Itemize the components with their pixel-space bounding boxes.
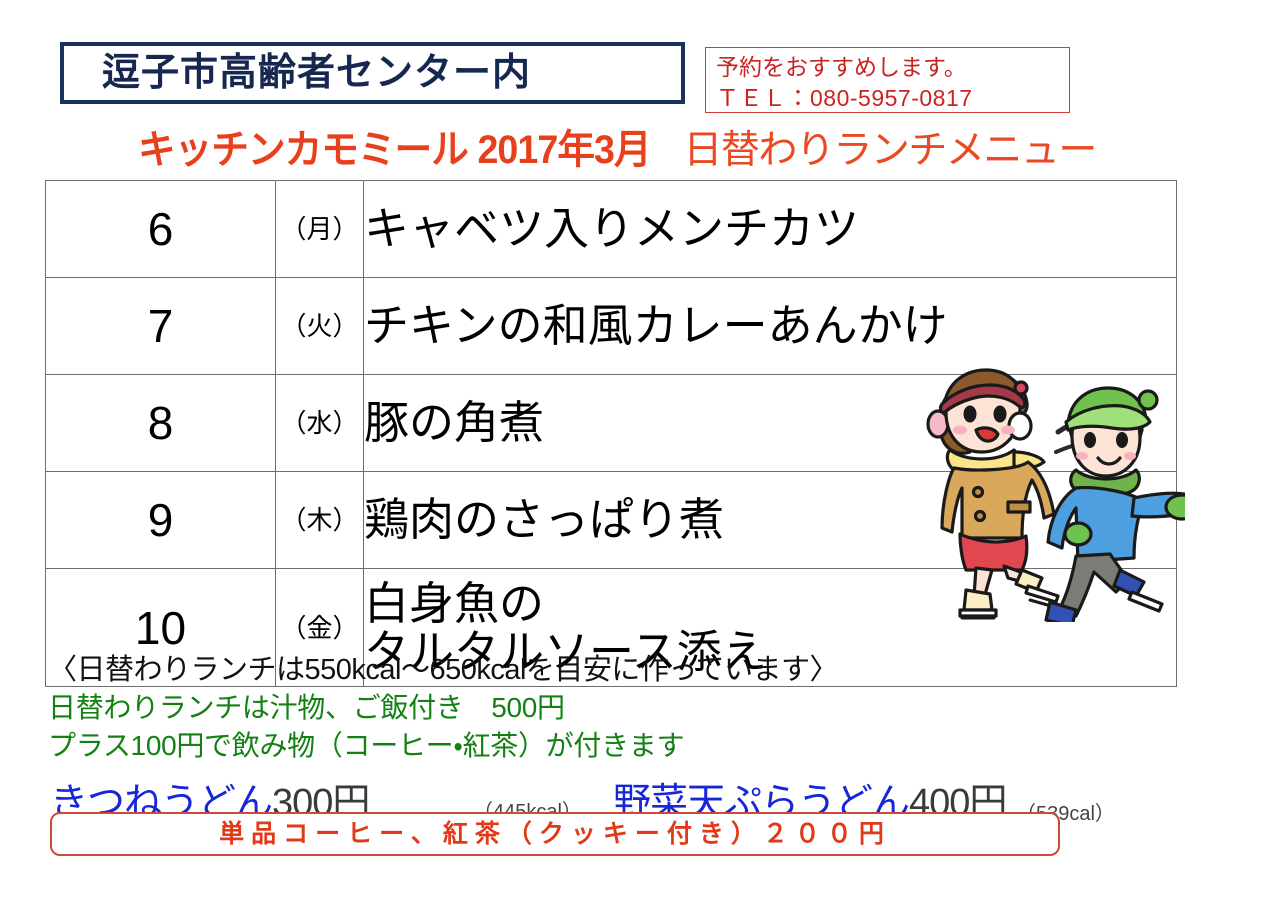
calorie-note: 〈日替わりランチは550kcal～650kcalを目安に作っています〉 [48, 652, 1238, 689]
table-row: 7 （火） チキンの和風カレーあんかけ [46, 278, 1177, 375]
menu-dish: 豚の角煮 [364, 375, 1177, 472]
table-row: 6 （月） キャベツ入りメンチカツ [46, 181, 1177, 278]
menu-dish: チキンの和風カレーあんかけ [364, 278, 1177, 375]
menu-dish-line1: チキンの和風カレーあんかけ [364, 300, 948, 351]
menu-dish-line1: 豚の角煮 [364, 397, 544, 448]
menu-date: 7 [46, 278, 276, 375]
menu-day: （火） [276, 278, 364, 375]
menu-dish-line1: 鶏肉のさっぱり煮 [364, 494, 724, 545]
page-title-shop: キッチンカモミール 2017年3月 [138, 130, 651, 170]
drink-add-note: プラス100円で飲み物（コーヒー・紅茶）が付きます [48, 727, 1238, 765]
menu-table: 6 （月） キャベツ入りメンチカツ 7 （火） チキンの和風カレーあんかけ 8 … [45, 180, 1177, 687]
menu-dish-line1: キャベツ入りメンチカツ [364, 203, 859, 254]
menu-dish-line1: 白身魚の [364, 578, 544, 629]
coffee-offer-box: 単品コーヒー、紅茶（クッキー付き）２００円 [50, 812, 1060, 856]
menu-dish: 鶏肉のさっぱり煮 [364, 472, 1177, 569]
menu-day: （木） [276, 472, 364, 569]
menu-date: 8 [46, 375, 276, 472]
reservation-phone: ＴＥＬ：080-5957-0817 [716, 83, 1069, 114]
table-row: 8 （水） 豚の角煮 [46, 375, 1177, 472]
footer-notes: 〈日替わりランチは550kcal～650kcalを目安に作っています〉 日替わり… [48, 652, 1238, 823]
menu-dish: キャベツ入りメンチカツ [364, 181, 1177, 278]
table-row: 9 （木） 鶏肉のさっぱり煮 [46, 472, 1177, 569]
venue-title: 逗子市高齢者センター内 [64, 54, 531, 92]
reservation-box: 予約をおすすめします。 ＴＥＬ：080-5957-0817 [705, 47, 1070, 113]
lunch-set-note: 日替わりランチは汁物、ご飯付き 500円 [48, 689, 1238, 727]
page-title-rest: 日替わりランチメニュー [683, 129, 1096, 172]
menu-date: 6 [46, 181, 276, 278]
menu-date: 9 [46, 472, 276, 569]
page-title: キッチンカモミール 2017年3月日替わりランチメニュー [138, 130, 1096, 170]
menu-flyer: 逗子市高齢者センター内 予約をおすすめします。 ＴＥＬ：080-5957-081… [0, 0, 1280, 904]
menu-day: （月） [276, 181, 364, 278]
venue-title-box: 逗子市高齢者センター内 [60, 42, 685, 104]
coffee-offer-text: 単品コーヒー、紅茶（クッキー付き）２００円 [219, 822, 891, 847]
header: 逗子市高齢者センター内 予約をおすすめします。 ＴＥＬ：080-5957-081… [0, 0, 1280, 128]
reservation-note: 予約をおすすめします。 [716, 52, 1069, 83]
menu-day: （水） [276, 375, 364, 472]
